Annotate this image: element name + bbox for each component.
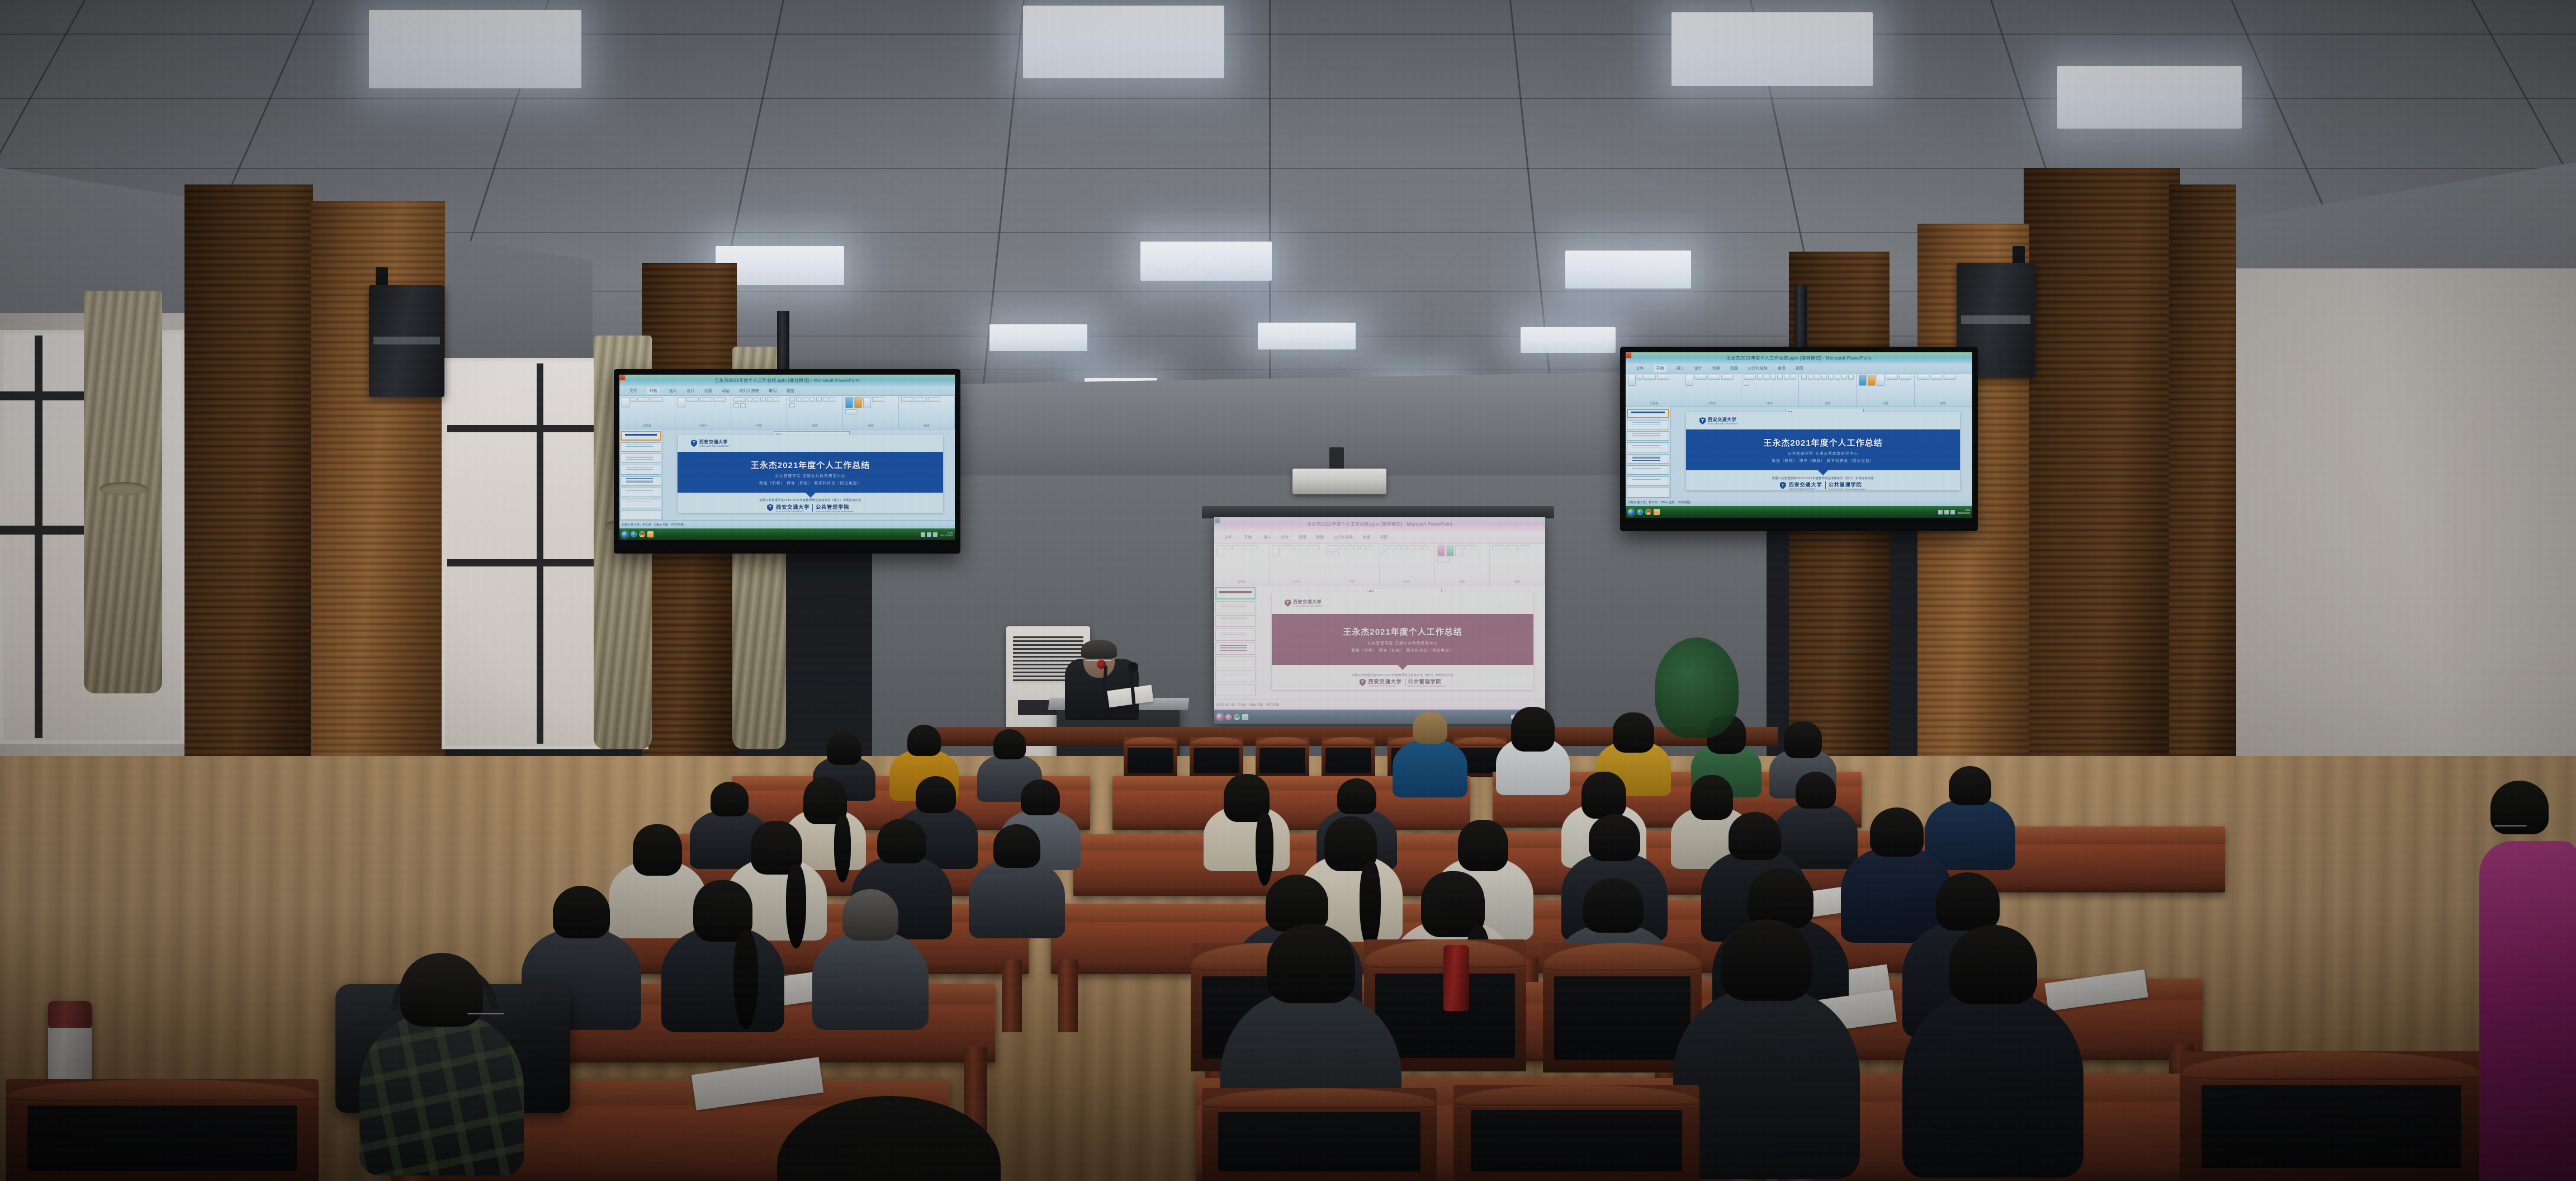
thermos-lid — [48, 1001, 92, 1028]
audience-member — [358, 951, 525, 1181]
file-explorer-icon[interactable] — [1654, 509, 1660, 515]
university-name-en: XI'AN JIAOTONG UNIVERSITY — [699, 445, 730, 447]
ribbon-group-label: 绘图 — [1437, 580, 1488, 584]
slide-thumbnail[interactable] — [621, 510, 661, 519]
footer-school-en: School of Public Policy and Administrati… — [1408, 685, 1446, 687]
ppt-tab-home[interactable]: 开始 — [1654, 365, 1666, 372]
university-logo: 西安交通大学 XI'AN JIAOTONG UNIVERSITY — [691, 439, 730, 447]
ppt-tab-transitions[interactable]: 切换 — [704, 388, 712, 394]
slide-thumbnail[interactable] — [1215, 587, 1256, 599]
browser-icon[interactable] — [1234, 714, 1240, 720]
ppt-tab-insert[interactable]: 插入 — [1677, 366, 1684, 371]
slide-thumbnail[interactable] — [621, 465, 661, 474]
university-name-cn: 西安交通大学 — [1708, 417, 1739, 423]
footer-school-en: School of Public Policy and Administrati… — [1829, 488, 1867, 490]
university-name-en: XI'AN JIAOTONG UNIVERSITY — [1708, 423, 1739, 425]
start-button-icon[interactable] — [1216, 714, 1223, 720]
footer-university-en: XI'AN JIAOTONG UNIVERSITY — [1789, 488, 1822, 490]
status-language: 中文(中国) — [1678, 500, 1690, 504]
slide-title: 王永杰2021年度个人工作总结 — [1343, 626, 1462, 637]
slide-thumbnail[interactable] — [1215, 629, 1256, 641]
ppt-workspace: 备注 单击此处添加备注。 演示文稿中的备注页内容不会 西安交通大学 XI'AN … — [1214, 585, 1545, 700]
slide-thumbnail-pane[interactable] — [1214, 585, 1257, 700]
browser-icon[interactable] — [1645, 509, 1651, 515]
ribbon-group-label: 段落 — [1382, 580, 1432, 584]
internet-explorer-icon[interactable] — [1225, 714, 1232, 720]
projected-powerpoint: 王永杰2021年度个人工作总结.pptx [兼容模式] - Microsoft … — [1214, 517, 1545, 724]
university-name-cn: 西安交通大学 — [1293, 599, 1324, 605]
slide-thumbnail-pane[interactable] — [619, 429, 663, 521]
ppt-tab-home[interactable]: 开始 — [1242, 534, 1254, 541]
start-button-icon[interactable] — [622, 531, 628, 538]
center-projection-screen: 王永杰2021年度个人工作总结.pptx [兼容模式] - Microsoft … — [1214, 517, 1545, 724]
chair[interactable] — [2180, 1051, 2482, 1181]
ceiling-light-panel — [2057, 66, 2242, 129]
standing-attendee-right — [2482, 772, 2576, 1181]
slide-editing-stage: 备注 单击此处添加备注。 演示文稿中的备注页内容不会 西安交通大学 XI — [663, 429, 955, 521]
windows-taskbar: 8:58 2021/12/23 — [619, 528, 955, 540]
logo-divider — [1405, 678, 1405, 686]
status-slide-indicator: 幻灯片 第 1 张，共 8 张 — [622, 523, 651, 527]
browser-icon[interactable] — [639, 531, 645, 537]
slide-subtitle-1: 公共管理学院 交通公共政策研究中心 — [1367, 640, 1438, 645]
ppt-tab-view[interactable]: 视图 — [787, 388, 794, 394]
ribbon-group-font: 字体 — [1741, 374, 1799, 406]
slide-editing-stage: 备注 单击此处添加备注。 演示文稿中的备注页内容不会 西安交通大学 XI — [1671, 407, 1972, 498]
tv-panel-left: 王永杰2021年度个人工作总结.pptx [兼容模式] - Microsoft … — [619, 375, 955, 540]
ribbon-group-label: 幻灯片 — [1685, 401, 1738, 405]
ribbon-group-label: 编辑 — [901, 424, 952, 428]
microphone-windscreen — [1097, 660, 1106, 669]
ppt-ribbon-tabs: 文件 开始 插入 设计 切换 动画 幻灯片放映 审阅 视图 — [619, 386, 955, 396]
university-logo: 西安交通大学 XI'AN JIAOTONG UNIVERSITY — [1699, 417, 1739, 425]
chair[interactable] — [1453, 1085, 1699, 1181]
ribbon-group-slides: 幻灯片 — [1270, 544, 1325, 585]
ppt-titlebar: 王永杰2021年度个人工作总结.pptx [兼容模式] - Microsoft … — [1214, 517, 1545, 532]
ppt-tab-transitions[interactable]: 切换 — [1299, 535, 1306, 540]
ppt-titlebar: 王永杰2021年度个人工作总结.pptx [兼容模式] - Microsoft … — [619, 375, 955, 386]
footer-school-cn: 公共管理学院 — [1408, 678, 1446, 685]
chair[interactable] — [1256, 737, 1309, 777]
wall-speaker-left — [369, 285, 444, 397]
slide-thumbnail[interactable] — [621, 453, 661, 463]
clock-date: 2021/12/23 — [940, 534, 953, 537]
audience-member-foreground — [766, 1096, 1012, 1181]
file-explorer-icon[interactable] — [647, 531, 654, 537]
slide-thumbnail-pane[interactable] — [1626, 407, 1671, 498]
ceiling-light-panel — [1521, 327, 1616, 353]
ppt-status-bar: 幻灯片 第 1 张，共 8 张 Office 主题 中文(中国) — [1626, 498, 1972, 506]
ribbon-group-drawing: 绘图 — [1857, 374, 1914, 406]
tray-network-icon[interactable] — [921, 532, 925, 537]
ribbon-group-editing: 编辑 — [1490, 544, 1545, 585]
slide-thumbnail[interactable] — [1215, 656, 1256, 669]
ppt-ribbon: 剪贴板 幻灯片 字体 段落 — [619, 396, 955, 429]
audience-member — [1202, 773, 1291, 872]
ceiling-light-panel — [1023, 6, 1224, 78]
ribbon-group-font: 字体 — [731, 396, 787, 428]
slide-thumbnail[interactable] — [1627, 409, 1669, 418]
slide-thumbnail[interactable] — [1215, 643, 1256, 655]
school-logo-lockup: 西安交通大学 XI'AN JIAOTONG UNIVERSITY 公共管理学院 … — [1360, 678, 1446, 687]
slide-thumbnail[interactable] — [621, 488, 661, 497]
ppt-tab-review[interactable]: 审阅 — [1362, 535, 1370, 540]
glasses-icon — [2494, 825, 2527, 827]
ppt-tab-slideshow[interactable]: 幻灯片放映 — [1748, 366, 1768, 371]
audience-member — [1901, 923, 2085, 1181]
ribbon-group-slides: 幻灯片 — [1683, 374, 1741, 406]
status-theme: Office 主题 — [1661, 500, 1674, 504]
slide-title-band: 王永杰2021年度个人工作总结 公共管理学院 交通公共政策研究中心 教授（职称）… — [678, 452, 943, 493]
system-tray[interactable] — [1938, 510, 1955, 514]
ceiling-light-panel — [1671, 12, 1873, 86]
powerpoint-taskbar-icon[interactable] — [1214, 517, 1220, 523]
chair[interactable] — [1322, 737, 1375, 777]
footer-university-en: XI'AN JIAOTONG UNIVERSITY — [776, 511, 809, 513]
slide-subtitle-1: 公共管理学院 交通公共政策研究中心 — [775, 473, 846, 478]
ppt-ribbon: 剪贴板 幻灯片 字体 段落 绘图 — [1214, 544, 1545, 585]
microphone-head — [1128, 662, 1138, 672]
ribbon-group-label: 剪贴板 — [622, 424, 673, 428]
ribbon-group-paragraph: 段落 — [787, 396, 843, 428]
slide-thumbnail[interactable] — [621, 442, 661, 452]
university-shield-icon — [691, 440, 697, 447]
ribbon-group-label: 编辑 — [1492, 580, 1542, 584]
ribbon-group-label: 剪贴板 — [1628, 401, 1680, 405]
ribbon-group-label: 幻灯片 — [1272, 580, 1322, 584]
ppt-tab-design[interactable]: 设计 — [1281, 535, 1289, 540]
ppt-tab-view[interactable]: 视图 — [1380, 535, 1388, 540]
slide-thumbnail[interactable] — [1627, 431, 1669, 441]
ribbon-group-label: 剪贴板 — [1216, 580, 1267, 584]
slide-thumbnail[interactable] — [1627, 454, 1669, 464]
left-wall-tv: 王永杰2021年度个人工作总结.pptx [兼容模式] - Microsoft … — [614, 369, 960, 554]
audience-member — [967, 822, 1067, 942]
ribbon-group-editing: 编辑 — [899, 396, 955, 428]
glasses-icon — [467, 1013, 504, 1015]
ribbon-group-drawing: 绘图 — [843, 396, 899, 428]
slide-footer-note: 依据公共管理学院2019-2021年度教师岗位考核办法（修订）中规定的内容 — [759, 498, 861, 502]
university-name-cn: 西安交通大学 — [699, 439, 730, 445]
slide-subtitle-2: 教授（职称） 博导（职级） 教学科研员（岗位类型） — [1772, 457, 1874, 463]
active-slide: 西安交通大学 XI'AN JIAOTONG UNIVERSITY 王永杰2021… — [1686, 412, 1961, 490]
powerpoint-taskbar-icon[interactable] — [1626, 352, 1632, 358]
clock-date: 2021/12/23 — [1957, 512, 1970, 514]
university-shield-icon — [1285, 599, 1291, 607]
tv-powerpoint-right: 王永杰2021年度个人工作总结.pptx [兼容模式] - Microsoft … — [1626, 352, 1972, 518]
status-language: 中文(中国) — [1266, 703, 1279, 707]
ribbon-group-slides: 幻灯片 — [675, 396, 731, 428]
system-tray[interactable] — [921, 532, 937, 537]
slide-header: 西安交通大学 XI'AN JIAOTONG UNIVERSITY — [1272, 592, 1534, 614]
ribbon-group-label: 字体 — [1327, 580, 1377, 584]
slide-thumbnail[interactable] — [621, 499, 661, 508]
ppt-tab-animations[interactable]: 动画 — [1316, 535, 1324, 540]
ppt-tab-animations[interactable]: 动画 — [722, 388, 730, 394]
ppt-tab-slideshow[interactable]: 幻灯片放映 — [740, 388, 759, 394]
ppt-tab-review[interactable]: 审阅 — [769, 388, 776, 394]
slide-footer-note: 依据公共管理学院2019-2021年度教师岗位考核办法（修订）中规定的内容 — [1352, 673, 1453, 677]
ppt-tab-file[interactable]: 文件 — [629, 388, 637, 394]
chair[interactable] — [1124, 737, 1177, 777]
ribbon-group-label: 幻灯片 — [678, 424, 728, 428]
slide-thumbnail[interactable] — [1627, 465, 1669, 475]
school-logo-lockup: 西安交通大学 XI'AN JIAOTONG UNIVERSITY 公共管理学院 … — [1780, 481, 1867, 490]
powerpoint-taskbar-icon[interactable] — [619, 375, 626, 381]
ppt-titlebar: 王永杰2021年度个人工作总结.pptx [兼容模式] - Microsoft … — [1626, 352, 1972, 364]
school-logo-lockup: 西安交通大学 XI'AN JIAOTONG UNIVERSITY 公共管理学院 … — [767, 503, 854, 513]
potted-plant — [1655, 637, 1739, 738]
ppt-tab-transitions[interactable]: 切换 — [1712, 366, 1720, 371]
ceiling-light-panel — [1565, 251, 1691, 289]
slide-subtitle-2: 教授（职称） 博导（职级） 教学科研员（岗位类型） — [1351, 647, 1453, 653]
projection-screen-housing — [1202, 506, 1554, 518]
window-mullion — [537, 363, 543, 744]
university-shield-icon — [767, 504, 773, 512]
footer-school-en: School of Public Policy and Administrati… — [816, 511, 854, 513]
windows-taskbar: 8:58 2021/12/23 — [1626, 506, 1972, 518]
presenter-hair — [1081, 640, 1117, 659]
ppt-tab-design[interactable]: 设计 — [686, 388, 694, 394]
ppt-tab-file[interactable]: 文件 — [1636, 366, 1644, 371]
footer-university-cn: 西安交通大学 — [1789, 481, 1822, 488]
tray-security-icon[interactable] — [933, 532, 937, 537]
slide-header: 西安交通大学 XI'AN JIAOTONG UNIVERSITY — [1686, 412, 1961, 429]
status-theme: Office 主题 — [1249, 703, 1263, 707]
slide-thumbnail[interactable] — [1215, 684, 1256, 696]
slide-thumbnail[interactable] — [1627, 488, 1669, 497]
ribbon-group-drawing: 绘图 — [1435, 544, 1490, 585]
slide-thumbnail[interactable] — [621, 476, 661, 486]
ribbon-group-label: 绘图 — [845, 424, 896, 428]
ribbon-group-editing: 编辑 — [1915, 374, 1972, 406]
slide-editing-stage: 备注 单击此处添加备注。 演示文稿中的备注页内容不会 西安交通大学 XI'AN … — [1257, 585, 1545, 700]
ppt-tab-view[interactable]: 视图 — [1796, 366, 1803, 371]
active-slide: 西安交通大学 XI'AN JIAOTONG UNIVERSITY 王永杰2021… — [1272, 592, 1534, 690]
university-logo: 西安交通大学 XI'AN JIAOTONG UNIVERSITY — [1285, 599, 1324, 607]
ribbon-group-label: 段落 — [789, 424, 840, 428]
active-slide: 西安交通大学 XI'AN JIAOTONG UNIVERSITY 王永杰2021… — [678, 434, 943, 513]
status-slide-indicator: 幻灯片 第 1 张，共 8 张 — [1628, 500, 1658, 504]
cola-bottle — [1443, 945, 1469, 1011]
ribbon-group-label: 绘图 — [1859, 401, 1911, 405]
slide-thumbnail[interactable] — [1627, 442, 1669, 452]
conference-room-photo: 王永杰2021年度个人工作总结.pptx [兼容模式] - Microsoft … — [0, 0, 2576, 1181]
ribbon-group-clipboard: 剪贴板 — [619, 396, 675, 428]
slide-footer-note: 依据公共管理学院2019-2021年度教师岗位考核办法（修订）中规定的内容 — [1772, 476, 1874, 480]
slide-thumbnail[interactable] — [1215, 670, 1256, 682]
curtain-tieback — [100, 482, 148, 495]
tv-panel-right: 王永杰2021年度个人工作总结.pptx [兼容模式] - Microsoft … — [1626, 352, 1972, 518]
footer-university-cn: 西安交通大学 — [776, 503, 809, 511]
slide-thumbnail[interactable] — [1215, 601, 1256, 613]
audience-member — [1671, 917, 1862, 1181]
ribbon-group-paragraph: 段落 — [1799, 374, 1857, 406]
footer-school-cn: 公共管理学院 — [816, 503, 854, 511]
ribbon-group-clipboard: 剪贴板 — [1214, 544, 1270, 585]
right-wall-tv: 王永杰2021年度个人工作总结.pptx [兼容模式] - Microsoft … — [1620, 347, 1978, 531]
slide-thumbnail[interactable] — [1627, 476, 1669, 486]
ppt-ribbon-tabs: 文件 开始 插入 设计 切换 动画 幻灯片放映 审阅 视图 — [1626, 364, 1972, 374]
audience-member — [811, 887, 930, 1034]
tray-volume-icon[interactable] — [1944, 510, 1949, 514]
status-slide-indicator: 幻灯片 第 1 张，共 8 张 — [1216, 703, 1246, 707]
slide-subtitle-2: 教授（职称） 博导（职级） 教学科研员（岗位类型） — [759, 480, 861, 485]
ppt-window-title: 王永杰2021年度个人工作总结.pptx [兼容模式] - Microsoft … — [1307, 521, 1452, 527]
ribbon-group-paragraph: 段落 — [1380, 544, 1435, 585]
chair[interactable] — [1202, 1088, 1437, 1181]
slide-title: 王永杰2021年度个人工作总结 — [1763, 437, 1882, 448]
university-shield-icon — [1780, 482, 1786, 489]
ribbon-group-label: 编辑 — [1917, 401, 1969, 405]
ppt-window-title: 王永杰2021年度个人工作总结.pptx [兼容模式] - Microsoft … — [714, 377, 860, 384]
ceiling-projector — [1292, 469, 1386, 494]
ribbon-group-label: 字体 — [1744, 401, 1796, 405]
tv-mount-pole-right — [1794, 285, 1807, 352]
status-language: 中文(中国) — [671, 523, 684, 527]
ribbon-group-font: 字体 — [1324, 544, 1380, 585]
ppt-tab-slideshow[interactable]: 幻灯片放映 — [1333, 535, 1353, 540]
ppt-tab-insert[interactable]: 插入 — [669, 388, 677, 394]
ppt-workspace: 备注 单击此处添加备注。 演示文稿中的备注页内容不会 西安交通大学 XI — [619, 429, 955, 521]
university-shield-icon — [1360, 679, 1366, 686]
ribbon-group-clipboard: 剪贴板 — [1626, 374, 1683, 406]
window-mullion — [35, 336, 42, 738]
status-theme: Office 主题 — [655, 523, 668, 527]
logo-divider — [812, 504, 813, 512]
footer-school-cn: 公共管理学院 — [1829, 481, 1867, 488]
ceiling-light-panel — [989, 324, 1087, 351]
ribbon-group-label: 字体 — [733, 424, 784, 428]
slide-title-band: 王永杰2021年度个人工作总结 公共管理学院 交通公共政策研究中心 教授（职称）… — [1686, 429, 1961, 470]
tray-network-icon[interactable] — [1938, 510, 1943, 514]
ppt-status-bar: 幻灯片 第 1 张，共 8 张 Office 主题 中文(中国) — [619, 520, 955, 528]
chair[interactable] — [6, 1079, 319, 1181]
ppt-tab-animations[interactable]: 动画 — [1730, 366, 1738, 371]
taskbar-clock[interactable]: 8:58 2021/12/23 — [940, 532, 953, 537]
slide-subtitle-1: 公共管理学院 交通公共政策研究中心 — [1788, 450, 1858, 456]
file-explorer-icon[interactable] — [1242, 714, 1248, 720]
slide-title: 王永杰2021年度个人工作总结 — [751, 459, 870, 471]
slide-thumbnail[interactable] — [621, 431, 661, 441]
ceiling-light-panel — [369, 10, 581, 88]
university-shield-icon — [1699, 417, 1706, 424]
left-wall-column — [184, 185, 313, 833]
internet-explorer-icon[interactable] — [631, 531, 637, 537]
footer-university-cn: 西安交通大学 — [1368, 678, 1402, 685]
slide-thumbnail[interactable] — [1627, 420, 1669, 429]
ppt-workspace: 备注 单击此处添加备注。 演示文稿中的备注页内容不会 西安交通大学 XI — [1626, 407, 1972, 498]
ppt-tab-file[interactable]: 文件 — [1224, 535, 1232, 540]
tray-security-icon[interactable] — [1950, 510, 1955, 514]
slide-header: 西安交通大学 XI'AN JIAOTONG UNIVERSITY — [678, 434, 943, 452]
audience-member — [660, 879, 786, 1037]
start-button-icon[interactable] — [1628, 509, 1635, 516]
ppt-tab-review[interactable]: 审阅 — [1778, 366, 1786, 371]
internet-explorer-icon[interactable] — [1637, 509, 1643, 515]
ppt-tab-design[interactable]: 设计 — [1694, 366, 1702, 371]
ribbon-group-label: 段落 — [1801, 401, 1854, 405]
slide-title-band: 王永杰2021年度个人工作总结 公共管理学院 交通公共政策研究中心 教授（职称）… — [1272, 614, 1534, 665]
footer-university-en: XI'AN JIAOTONG UNIVERSITY — [1368, 685, 1402, 687]
audience-member — [1391, 709, 1469, 796]
university-name-en: XI'AN JIAOTONG UNIVERSITY — [1293, 605, 1324, 607]
ppt-ribbon: 剪贴板 幻灯片 字体 段落 — [1626, 374, 1972, 407]
logo-divider — [1825, 481, 1826, 489]
taskbar-clock[interactable]: 8:58 2021/12/23 — [1957, 509, 1970, 515]
chair[interactable] — [1190, 737, 1243, 777]
tray-volume-icon[interactable] — [927, 532, 931, 537]
slide-thumbnail[interactable] — [1215, 615, 1256, 627]
ppt-ribbon-tabs: 文件 开始 插入 设计 切换 动画 幻灯片放映 审阅 视图 — [1214, 532, 1545, 544]
ppt-tab-home[interactable]: 开始 — [647, 388, 659, 394]
ceiling-light-panel — [1140, 242, 1272, 281]
ppt-tab-insert[interactable]: 插入 — [1263, 535, 1271, 540]
tv-powerpoint-left: 王永杰2021年度个人工作总结.pptx [兼容模式] - Microsoft … — [619, 375, 955, 540]
ceiling-light-panel — [1258, 323, 1356, 349]
ppt-window-title: 王永杰2021年度个人工作总结.pptx [兼容模式] - Microsoft … — [1726, 355, 1872, 361]
